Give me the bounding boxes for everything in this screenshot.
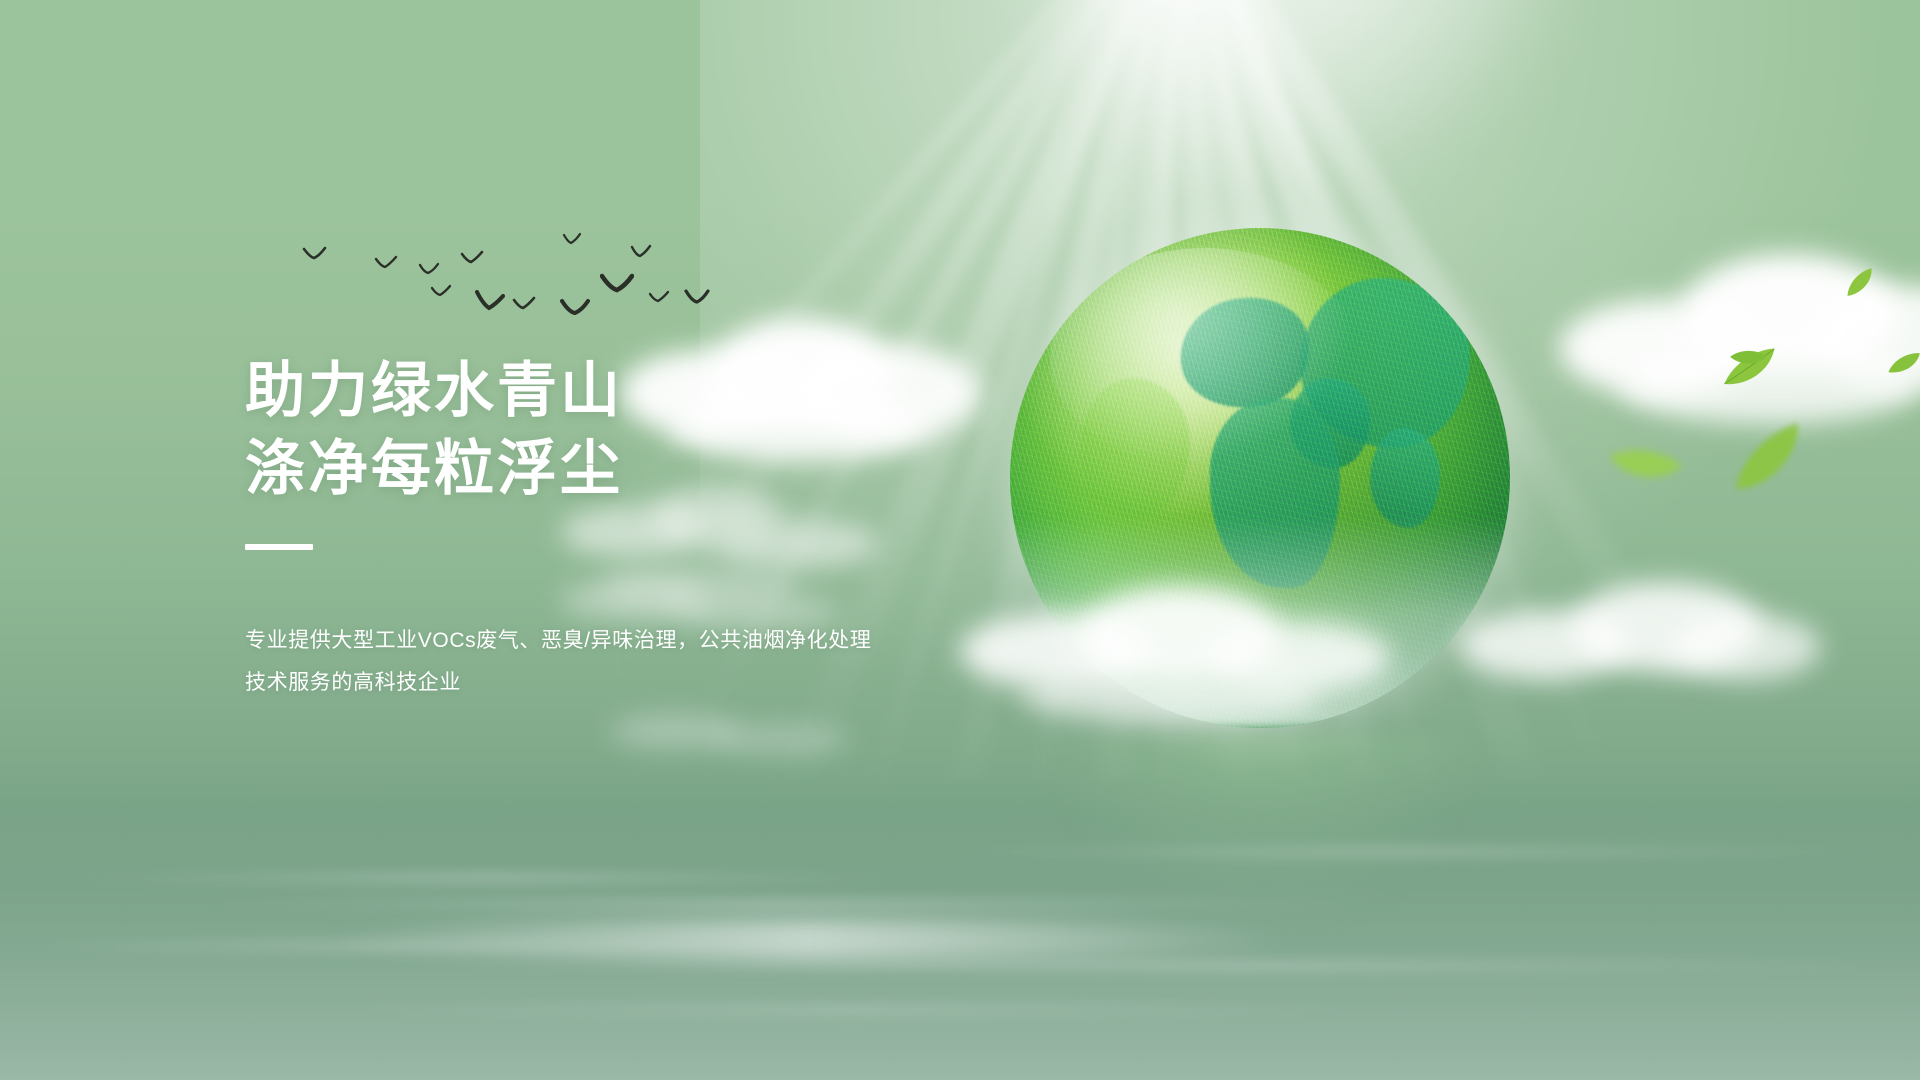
bird-icon bbox=[460, 250, 484, 265]
globe-highlight bbox=[1050, 248, 1360, 468]
bird-icon bbox=[648, 290, 670, 304]
title-divider bbox=[245, 544, 313, 550]
bird-icon bbox=[684, 288, 710, 306]
water-ripple bbox=[560, 960, 1920, 972]
water-ripple bbox=[900, 846, 1920, 858]
water-ripple bbox=[300, 1004, 1400, 1016]
headline-line-2: 涤净每粒浮尘 bbox=[245, 438, 965, 500]
headline-line-1: 助力绿水青山 bbox=[245, 357, 623, 424]
hero-subtitle: 专业提供大型工业VOCs废气、恶臭/异味治理，公共油烟净化处理技术服务的高科技企… bbox=[245, 620, 885, 704]
page-title: 助力绿水青山 涤净每粒浮尘 bbox=[245, 360, 965, 500]
hero-copy: 助力绿水青山 涤净每粒浮尘 专业提供大型工业VOCs废气、恶臭/异味治理，公共油… bbox=[245, 360, 965, 704]
bird-icon bbox=[430, 284, 452, 298]
bird-icon bbox=[630, 244, 652, 260]
bird-icon bbox=[418, 262, 440, 276]
bird-icon bbox=[600, 272, 634, 294]
bird-icon bbox=[512, 296, 536, 311]
cloud-cluster-globe-front bbox=[960, 560, 1380, 750]
water-ripple bbox=[40, 872, 940, 884]
bird-icon bbox=[562, 232, 582, 246]
sun-glow bbox=[980, 0, 1600, 200]
bird-icon bbox=[560, 298, 590, 316]
bird-icon bbox=[475, 290, 505, 312]
water-surface bbox=[0, 750, 1920, 1080]
cloud-cluster-globe-right bbox=[1460, 560, 1800, 730]
bird-icon bbox=[374, 255, 398, 270]
hero-banner: 助力绿水青山 涤净每粒浮尘 专业提供大型工业VOCs废气、恶臭/异味治理，公共油… bbox=[0, 0, 1920, 1080]
water-highlight bbox=[320, 920, 1300, 960]
water-ripple bbox=[180, 898, 1380, 910]
bird-icon bbox=[302, 246, 328, 262]
